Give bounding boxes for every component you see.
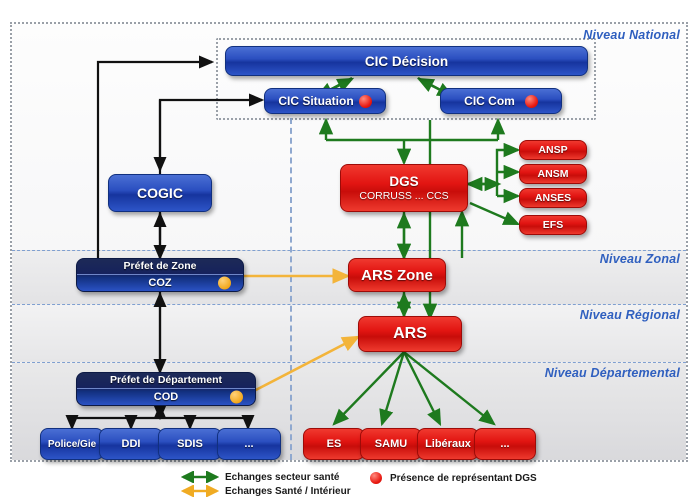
node-liberaux[interactable]: Libéraux <box>417 428 479 460</box>
node-sublabel: COZ <box>148 277 171 289</box>
node-ars-zone[interactable]: ARS Zone <box>348 258 446 292</box>
node-label: DDI <box>122 438 141 450</box>
diagram-canvas: Niveau National Niveau Zonal Niveau Régi… <box>0 0 700 500</box>
node-sublabel-row: COD <box>77 389 255 405</box>
node-label: CIC Décision <box>365 54 448 69</box>
node-cogic[interactable]: COGIC <box>108 174 212 212</box>
node-label: Libéraux <box>425 438 471 450</box>
node-label: ... <box>244 438 253 450</box>
node-label: ES <box>327 438 342 450</box>
legend-item-orange: Echanges Santé / Intérieur <box>175 484 425 498</box>
node-label: Préfet de Département <box>77 373 255 389</box>
node-label: ARS Zone <box>361 267 433 284</box>
node-samu[interactable]: SAMU <box>360 428 422 460</box>
node-autres-interieur[interactable]: ... <box>217 428 281 460</box>
node-label: Police/Gie <box>48 439 96 450</box>
node-label: ANSES <box>535 192 571 204</box>
node-ansm[interactable]: ANSM <box>519 164 587 184</box>
red-dot-icon <box>370 472 382 484</box>
double-arrow-orange-icon <box>175 485 225 497</box>
node-label: CIC Situation <box>278 94 353 108</box>
node-dgs[interactable]: DGS CORRUSS ... CCS <box>340 164 468 212</box>
node-label: ARS <box>393 325 427 343</box>
node-ddi[interactable]: DDI <box>99 428 163 460</box>
node-sdis[interactable]: SDIS <box>158 428 222 460</box>
node-sublabel-row: COZ <box>77 275 243 291</box>
node-cic-com[interactable]: CIC Com <box>440 88 562 114</box>
node-anses[interactable]: ANSES <box>519 188 587 208</box>
node-sublabel: COD <box>154 391 178 403</box>
node-label: DGS <box>389 174 418 189</box>
node-cic-situation[interactable]: CIC Situation <box>264 88 386 114</box>
node-autres-sante[interactable]: ... <box>474 428 536 460</box>
node-es[interactable]: ES <box>303 428 365 460</box>
node-label: ANSP <box>538 144 567 156</box>
node-label: ANSM <box>538 168 569 180</box>
node-label: ... <box>500 438 509 450</box>
node-cic-decision[interactable]: CIC Décision <box>225 46 588 76</box>
legend-label-orange: Echanges Santé / Intérieur <box>225 486 351 497</box>
legend-item-red-dot: Présence de représentant DGS <box>370 472 537 484</box>
legend-label-red-dot: Présence de représentant DGS <box>390 473 537 484</box>
legend: Echanges secteur santé Echanges Santé / … <box>175 470 605 500</box>
node-prefet-de-departement[interactable]: Préfet de Département COD <box>76 372 256 406</box>
node-label: EFS <box>543 219 563 231</box>
legend-label-green: Echanges secteur santé <box>225 472 340 483</box>
node-label: Préfet de Zone <box>77 259 243 275</box>
node-ars[interactable]: ARS <box>358 316 462 352</box>
node-efs[interactable]: EFS <box>519 215 587 235</box>
node-label: SDIS <box>177 438 203 450</box>
orange-marker-icon <box>230 390 243 403</box>
orange-marker-icon <box>218 276 231 289</box>
green-links <box>318 78 518 424</box>
orange-links <box>240 276 358 392</box>
black-links <box>98 62 262 418</box>
node-police-gie[interactable]: Police/Gie <box>40 428 104 460</box>
node-ansp[interactable]: ANSP <box>519 140 587 160</box>
node-label: COGIC <box>137 185 183 201</box>
node-label: SAMU <box>375 438 407 450</box>
node-label: CIC Com <box>464 94 515 108</box>
dgs-presence-dot-icon <box>525 95 538 108</box>
dgs-presence-dot-icon <box>359 95 372 108</box>
node-prefet-de-zone[interactable]: Préfet de Zone COZ <box>76 258 244 292</box>
black-bus <box>72 406 248 428</box>
node-sublabel: CORRUSS ... CCS <box>359 190 448 202</box>
double-arrow-green-icon <box>175 471 225 483</box>
